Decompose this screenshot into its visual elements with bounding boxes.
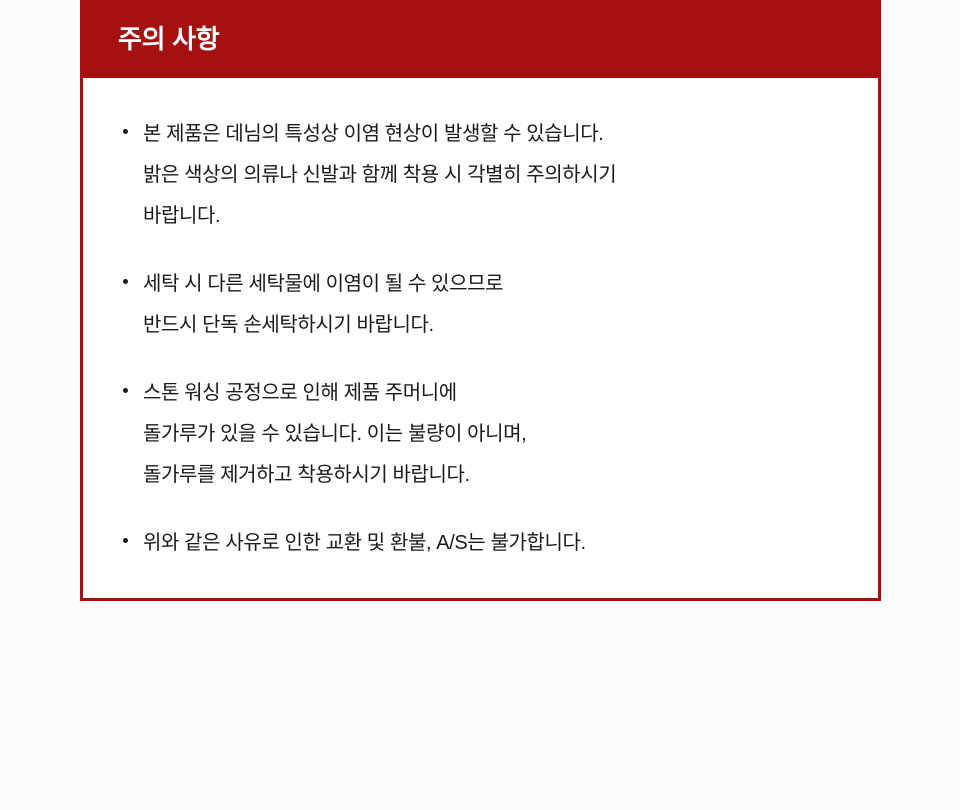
bullet-dot-icon <box>123 538 128 543</box>
notice-line: 위와 같은 사유로 인한 교환 및 환불, A/S는 불가합니다. <box>143 523 848 564</box>
notice-body: 본 제품은 데님의 특성상 이염 현상이 발생할 수 있습니다.밝은 색상의 의… <box>80 78 881 601</box>
notice-line: 스톤 워싱 공정으로 인해 제품 주머니에 <box>143 373 848 414</box>
list-item: 세탁 시 다른 세탁물에 이염이 될 수 있으므로반드시 단독 손세탁하시기 바… <box>121 264 848 346</box>
notice-line: 돌가루를 제거하고 착용하시기 바랍니다. <box>143 455 848 496</box>
notice-line: 세탁 시 다른 세탁물에 이염이 될 수 있으므로 <box>143 264 848 305</box>
list-item: 위와 같은 사유로 인한 교환 및 환불, A/S는 불가합니다. <box>121 523 848 564</box>
bullet-dot-icon <box>123 388 128 393</box>
list-item: 스톤 워싱 공정으로 인해 제품 주머니에돌가루가 있을 수 있습니다. 이는 … <box>121 373 848 496</box>
notice-page: 주의 사항 본 제품은 데님의 특성상 이염 현상이 발생할 수 있습니다.밝은… <box>0 0 960 810</box>
notice-header: 주의 사항 <box>80 0 881 78</box>
notice-line: 밝은 색상의 의류나 신발과 함께 착용 시 각별히 주의하시기 <box>143 155 848 196</box>
notice-list: 본 제품은 데님의 특성상 이염 현상이 발생할 수 있습니다.밝은 색상의 의… <box>121 114 848 564</box>
notice-line: 본 제품은 데님의 특성상 이염 현상이 발생할 수 있습니다. <box>143 114 848 155</box>
page-title: 주의 사항 <box>118 26 219 52</box>
notice-line: 반드시 단독 손세탁하시기 바랍니다. <box>143 305 848 346</box>
bullet-dot-icon <box>123 129 128 134</box>
notice-card: 주의 사항 본 제품은 데님의 특성상 이염 현상이 발생할 수 있습니다.밝은… <box>80 0 881 601</box>
list-item: 본 제품은 데님의 특성상 이염 현상이 발생할 수 있습니다.밝은 색상의 의… <box>121 114 848 237</box>
notice-line: 바랍니다. <box>143 196 848 237</box>
bullet-dot-icon <box>123 279 128 284</box>
notice-line: 돌가루가 있을 수 있습니다. 이는 불량이 아니며, <box>143 414 848 455</box>
